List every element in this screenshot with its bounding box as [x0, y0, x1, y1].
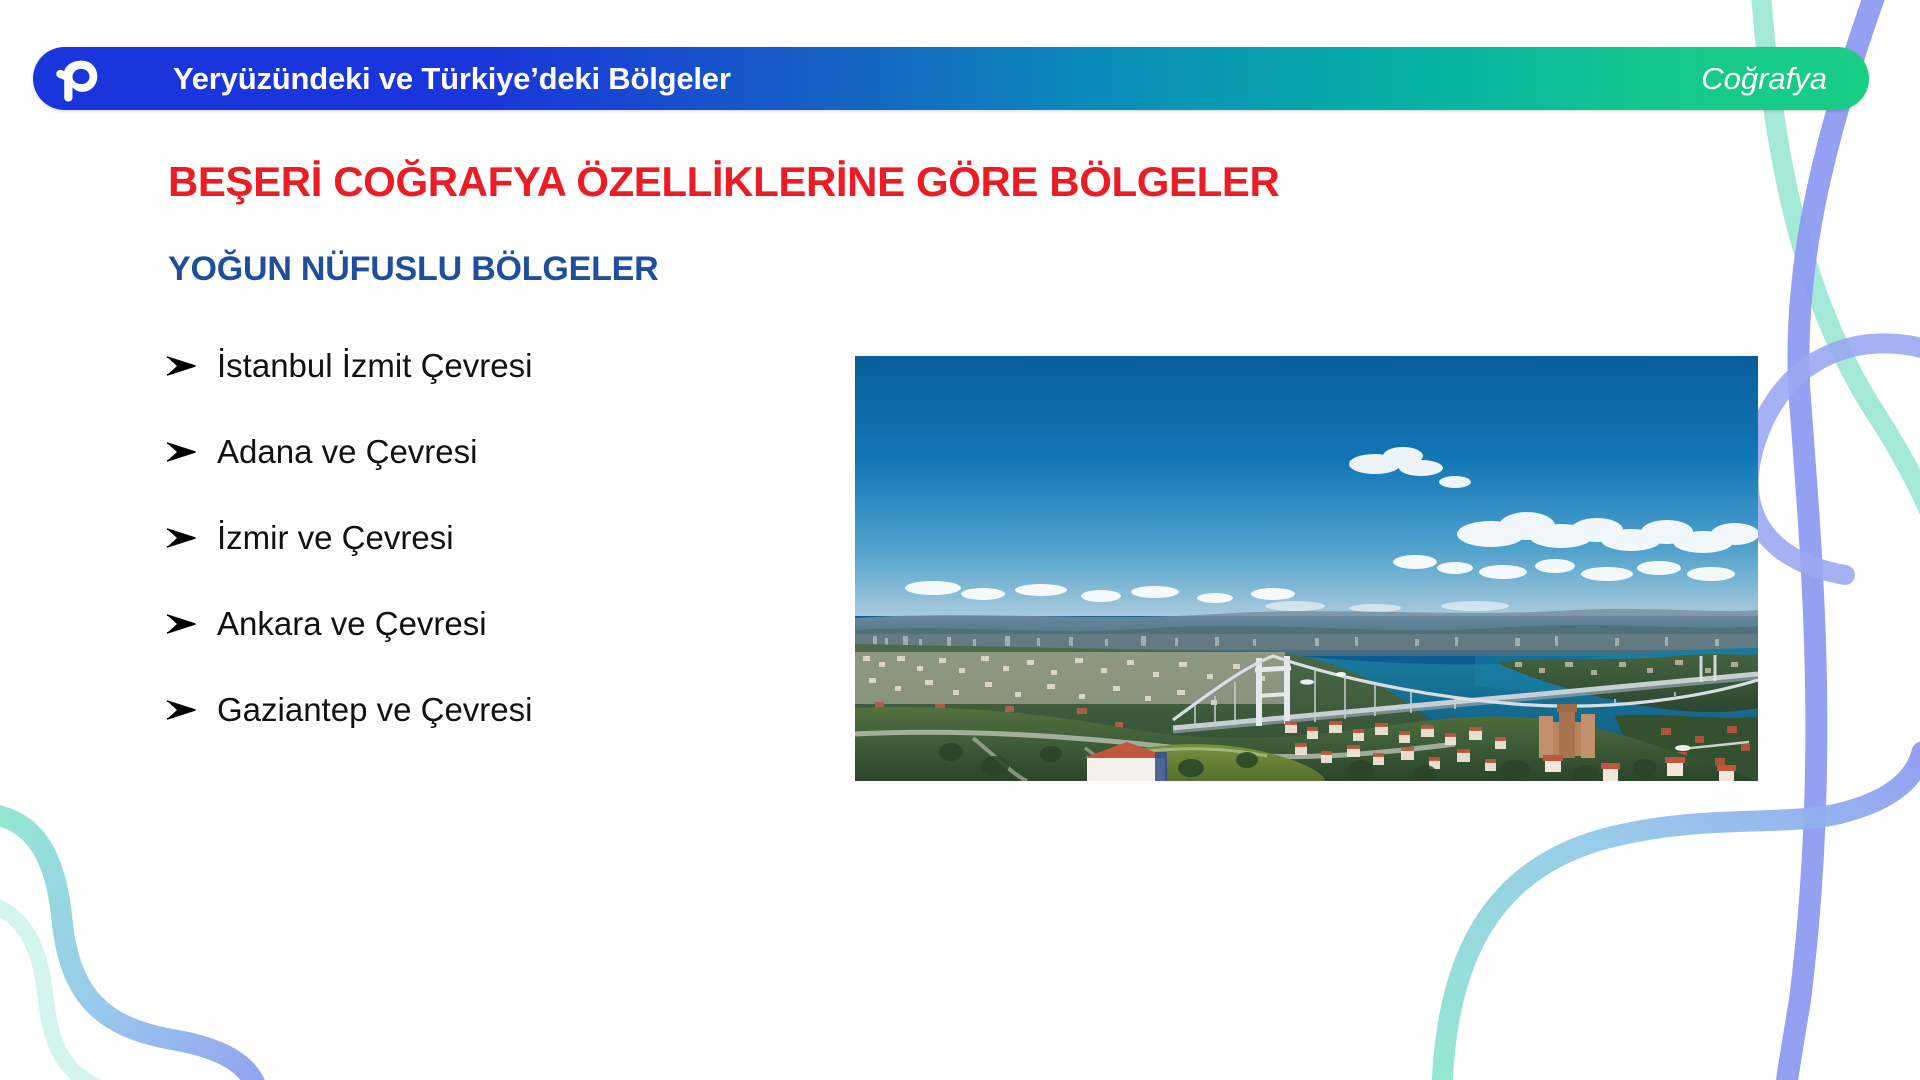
- list-item-label: Ankara ve Çevresi: [217, 605, 487, 643]
- list-item-label: İzmir ve Çevresi: [217, 519, 454, 557]
- decor-curve-bottom-right: [1442, 752, 1920, 1080]
- list-item-label: Adana ve Çevresi: [217, 433, 477, 471]
- region-list: İstanbul İzmit Çevresi Adana ve Çevresi …: [165, 345, 805, 775]
- decor-curve-bottom-left-secondary: [0, 900, 110, 1080]
- decor-curve-bottom-left: [0, 812, 258, 1080]
- arrow-bullet-icon: [165, 603, 217, 635]
- subject-badge-label: Coğrafya: [1701, 61, 1827, 97]
- section-heading-secondary: YOĞUN NÜFUSLU BÖLGELER: [168, 250, 659, 289]
- list-item-label: İstanbul İzmit Çevresi: [217, 347, 532, 385]
- decor-curve-periwinkle-arc: [1749, 343, 1920, 575]
- slide-title: Yeryüzündeki ve Türkiye’deki Bölgeler: [173, 61, 731, 97]
- arrow-bullet-icon: [165, 689, 217, 721]
- slide-canvas: Yeryüzündeki ve Türkiye’deki Bölgeler Co…: [0, 0, 1920, 1080]
- list-item-label: Gaziantep ve Çevresi: [217, 691, 532, 729]
- p-logo-icon: [55, 56, 101, 102]
- section-heading-primary: BEŞERİ COĞRAFYA ÖZELLİKLERİNE GÖRE BÖLGE…: [168, 158, 1279, 206]
- list-item: Gaziantep ve Çevresi: [165, 689, 805, 775]
- arrow-bullet-icon: [165, 431, 217, 463]
- list-item: Ankara ve Çevresi: [165, 603, 805, 689]
- decor-curve-mint-right: [1760, 0, 1920, 760]
- slide-header-bar: Yeryüzündeki ve Türkiye’deki Bölgeler Co…: [33, 47, 1869, 110]
- list-item: İzmir ve Çevresi: [165, 517, 805, 603]
- arrow-bullet-icon: [165, 345, 217, 377]
- bosphorus-istanbul-photo: [855, 356, 1758, 781]
- decor-curve-purple-right: [1785, 0, 1880, 1080]
- list-item: Adana ve Çevresi: [165, 431, 805, 517]
- list-item: İstanbul İzmit Çevresi: [165, 345, 805, 431]
- arrow-bullet-icon: [165, 517, 217, 549]
